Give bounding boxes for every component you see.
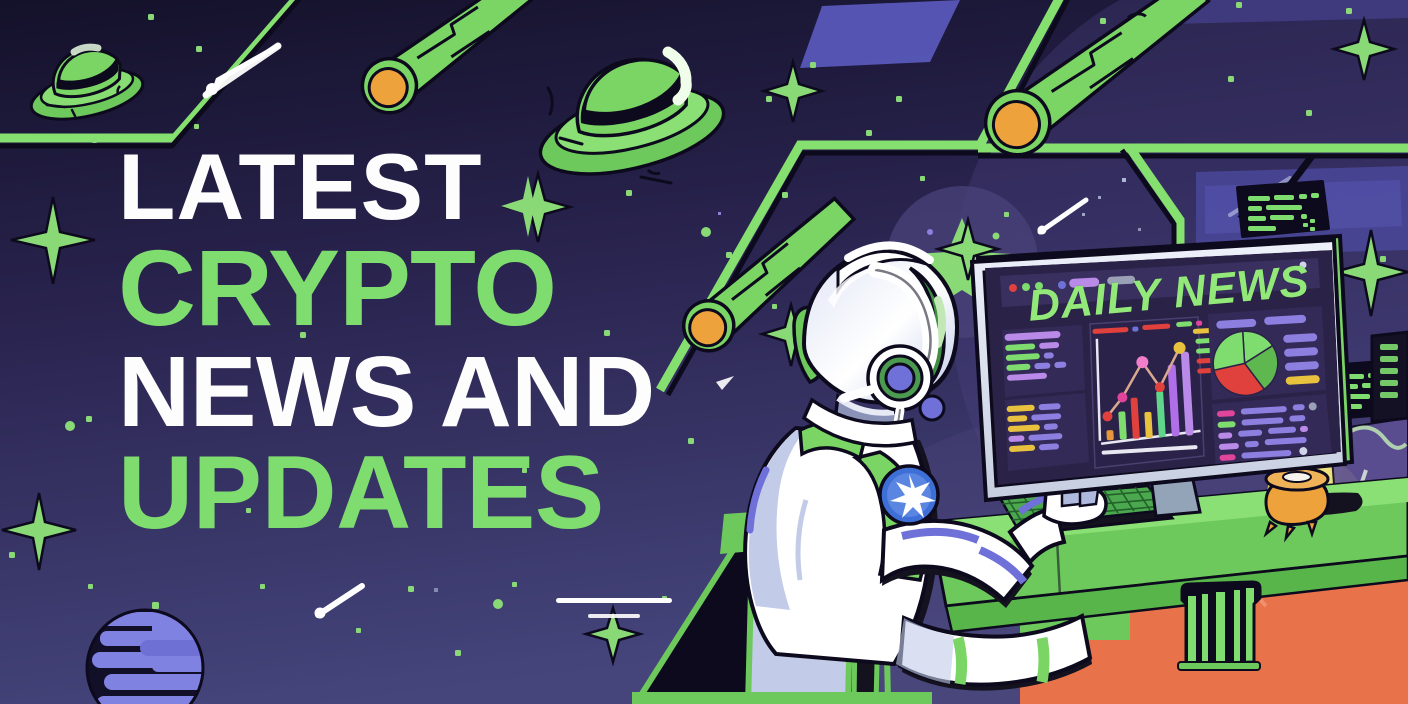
headline-line-3: NEWS AND <box>118 344 738 440</box>
headline-line-2: CRYPTO <box>118 236 738 340</box>
screen-right-panel-top <box>1208 306 1326 400</box>
headline-line-4: UPDATES <box>118 444 738 544</box>
bottles <box>1178 582 1260 670</box>
headline-block: LATEST CRYPTO NEWS AND UPDATES <box>118 142 738 548</box>
headline-line-1: LATEST <box>118 142 738 232</box>
illustration-banner: LATEST CRYPTO NEWS AND UPDATES DAILY NEW… <box>0 0 1408 704</box>
server-rack <box>1372 332 1408 422</box>
suit-emblem <box>880 466 938 524</box>
